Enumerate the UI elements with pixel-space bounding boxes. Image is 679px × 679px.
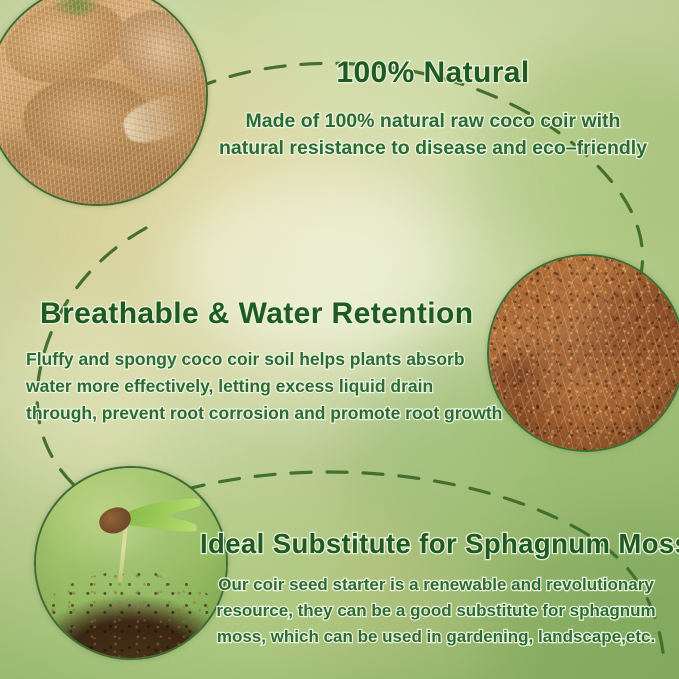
feature-block-natural: 100% Natural Made of 100% natural raw co…: [198, 55, 668, 162]
body-line: Made of 100% natural raw coco coir with: [198, 108, 668, 135]
feature-block-breathable: Breathable & Water Retention Fluffy and …: [26, 296, 496, 427]
feature-body-natural: Made of 100% natural raw coco coir with …: [198, 108, 668, 162]
feature-heading-substitute: Ideal Substitute for Sphagnum Moss: [200, 527, 672, 561]
body-line: resource, they can be a good substitute …: [200, 598, 672, 624]
seedling-shading: [36, 468, 226, 658]
feature-body-breathable: Fluffy and spongy coco coir soil helps p…: [26, 346, 496, 427]
feature-heading-breathable: Breathable & Water Retention: [40, 296, 496, 332]
feature-body-substitute: Our coir seed starter is a renewable and…: [200, 572, 672, 650]
body-line: Our coir seed starter is a renewable and…: [200, 572, 672, 598]
body-line: through, prevent root corrosion and prom…: [26, 400, 496, 427]
photo-seedling-sprout: [34, 466, 228, 660]
photo-coco-coir-soil: [487, 254, 679, 452]
feature-block-substitute: Ideal Substitute for Sphagnum Moss Our c…: [200, 527, 672, 650]
product-infographic: 100% Natural Made of 100% natural raw co…: [0, 0, 679, 679]
soil-shading: [489, 256, 679, 450]
body-line: moss, which can be used in gardening, la…: [200, 624, 672, 650]
feature-heading-natural: 100% Natural: [198, 55, 668, 91]
body-line: water more effectively, letting excess l…: [26, 373, 496, 400]
husk-fiber-strands: [0, 0, 206, 204]
body-line: Fluffy and spongy coco coir soil helps p…: [26, 346, 496, 373]
photo-raw-coir-husk: [0, 0, 208, 206]
body-line: natural resistance to disease and eco–fr…: [198, 135, 668, 162]
